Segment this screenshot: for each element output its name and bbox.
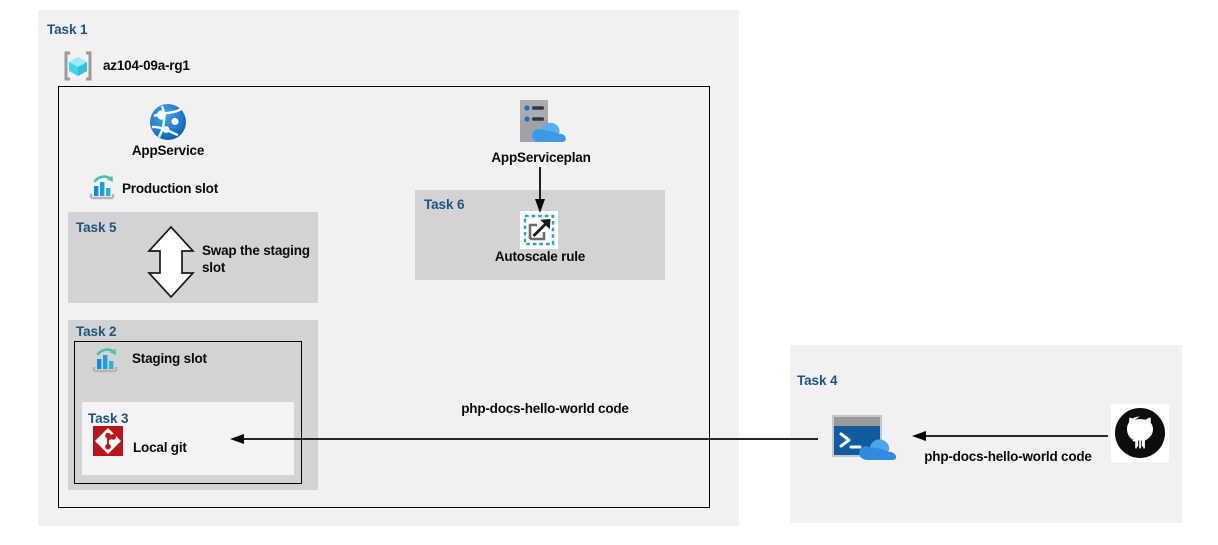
github-icon: [1111, 404, 1169, 462]
production-slot-label: Production slot: [122, 181, 218, 196]
app-service-icon: [148, 102, 188, 142]
git-icon: [93, 426, 123, 456]
task4-label: Task 4: [797, 373, 837, 388]
task5-label: Task 5: [76, 220, 116, 235]
autoscale-rule-icon: [520, 211, 558, 249]
staging-slot-label: Staging slot: [132, 351, 207, 366]
app-service-plan-label: AppServiceplan: [470, 150, 612, 165]
diagram-canvas: Task 1 az104-09a-rg1: [0, 0, 1218, 545]
task6-label: Task 6: [424, 197, 464, 212]
swap-up-down-arrow-icon: [146, 226, 196, 298]
deployment-slot-icon: [91, 347, 119, 375]
task1-label: Task 1: [47, 22, 87, 37]
app-service-label: AppService: [118, 143, 218, 158]
center-arrow-label: php-docs-hello-world code: [455, 400, 635, 417]
cloud-shell-icon: [832, 414, 900, 462]
autoscale-rule-label: Autoscale rule: [470, 249, 610, 264]
task5-action-label: Swap the staging slot: [202, 242, 312, 277]
task3-label: Task 3: [88, 411, 128, 426]
task2-label: Task 2: [76, 324, 116, 339]
resource-group-icon: [62, 50, 94, 82]
resource-group-name: az104-09a-rg1: [103, 58, 190, 73]
local-git-label: Local git: [133, 440, 187, 455]
deployment-slot-icon: [88, 174, 116, 202]
task4-arrow-label: php-docs-hello-world code: [918, 448, 1098, 465]
app-service-plan-icon: [512, 98, 570, 150]
